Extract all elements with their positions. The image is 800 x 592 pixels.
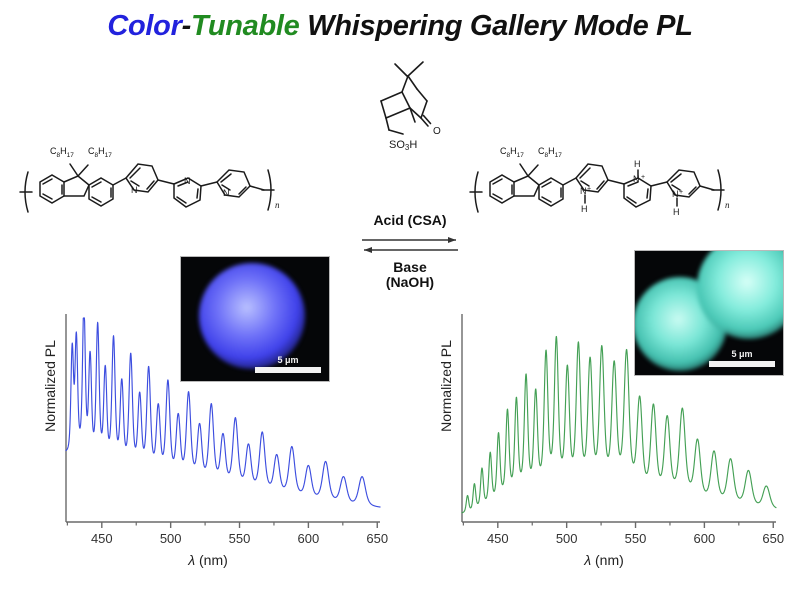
protonated-polymer-structure: N + H N + H N + H n C8H17 C8H17	[468, 138, 798, 248]
base-label-line2: (NaOH)	[386, 274, 434, 290]
scalebar	[709, 361, 775, 367]
camphorsulfonic-acid-structure: O SO3H	[355, 56, 465, 161]
x-tick-label: 500	[556, 531, 578, 546]
sidechain-label-left: C8H17	[50, 146, 74, 159]
figure-root: Color-Tunable Whispering Gallery Mode PL	[0, 0, 800, 592]
green-spectrum-panel: Normalized PL 450500550600650 λ (nm) 5 μ…	[404, 300, 794, 592]
x-axis-label: λ (nm)	[38, 552, 378, 568]
scalebar	[255, 367, 321, 373]
base-label-line1: Base	[393, 259, 426, 275]
blue-microsphere-inset: 5 μm	[180, 256, 330, 382]
ring-nitrogen-label: N	[184, 176, 191, 186]
x-tick-label: 600	[694, 531, 716, 546]
svg-text:O: O	[433, 126, 441, 137]
x-tick-label: 650	[762, 531, 784, 546]
blue-spectrum-panel: Normalized PL 450500550600650 λ (nm) 5 μ…	[8, 300, 398, 592]
title-part-rest: Whispering Gallery Mode PL	[300, 10, 693, 42]
n-hydrogen-label: H	[673, 207, 680, 217]
n-hydrogen-label: H	[634, 159, 641, 169]
ring-nitrogen-label: N	[580, 186, 587, 196]
protonation-charge-label: +	[587, 186, 591, 193]
protonation-charge-label: +	[679, 189, 683, 196]
sidechain-label-right: C8H17	[88, 146, 112, 159]
page-title: Color-Tunable Whispering Gallery Mode PL	[0, 10, 800, 43]
n-hydrogen-label: H	[581, 204, 588, 214]
ring-nitrogen-label: N	[223, 188, 230, 198]
x-axis-unit: (nm)	[199, 552, 228, 568]
equilibrium-arrows-icon	[360, 234, 460, 256]
sidechain-label-right: C8H17	[538, 146, 562, 159]
green-microspheres-inset: 5 μm	[634, 250, 784, 376]
x-tick-label: 500	[160, 531, 182, 546]
ring-nitrogen-label: N	[131, 185, 138, 195]
x-tick-label: 550	[625, 531, 647, 546]
title-dash: -	[182, 10, 191, 42]
repeat-unit-subscript: n	[725, 200, 730, 210]
acid-reagent-label: Acid (CSA)	[330, 212, 490, 228]
title-part-color: Color	[107, 10, 181, 42]
x-tick-label: 550	[229, 531, 251, 546]
base-reagent-label: Base (NaOH)	[330, 260, 490, 290]
ring-nitrogen-label: N	[633, 174, 640, 184]
microsphere-glow	[199, 263, 305, 369]
x-axis-label: λ (nm)	[434, 552, 774, 568]
scalebar-label: 5 μm	[255, 355, 321, 365]
reaction-scheme: O SO3H Acid (CSA) Base (NaOH)	[0, 52, 800, 252]
sidechain-label-left: C8H17	[500, 146, 524, 159]
x-tick-label: 650	[366, 531, 388, 546]
scalebar-label: 5 μm	[709, 349, 775, 359]
neutral-polymer-structure: N N N n C8H17 C8H17	[18, 138, 348, 248]
title-part-tunable: Tunable	[191, 10, 300, 42]
x-axis-unit: (nm)	[595, 552, 624, 568]
repeat-unit-subscript: n	[275, 200, 280, 210]
x-tick-label: 450	[487, 531, 509, 546]
x-tick-label: 600	[298, 531, 320, 546]
x-tick-label: 450	[91, 531, 113, 546]
protonation-charge-label: +	[641, 174, 645, 181]
ring-nitrogen-label: N	[672, 189, 679, 199]
sulfonic-acid-label: SO3H	[389, 139, 417, 152]
